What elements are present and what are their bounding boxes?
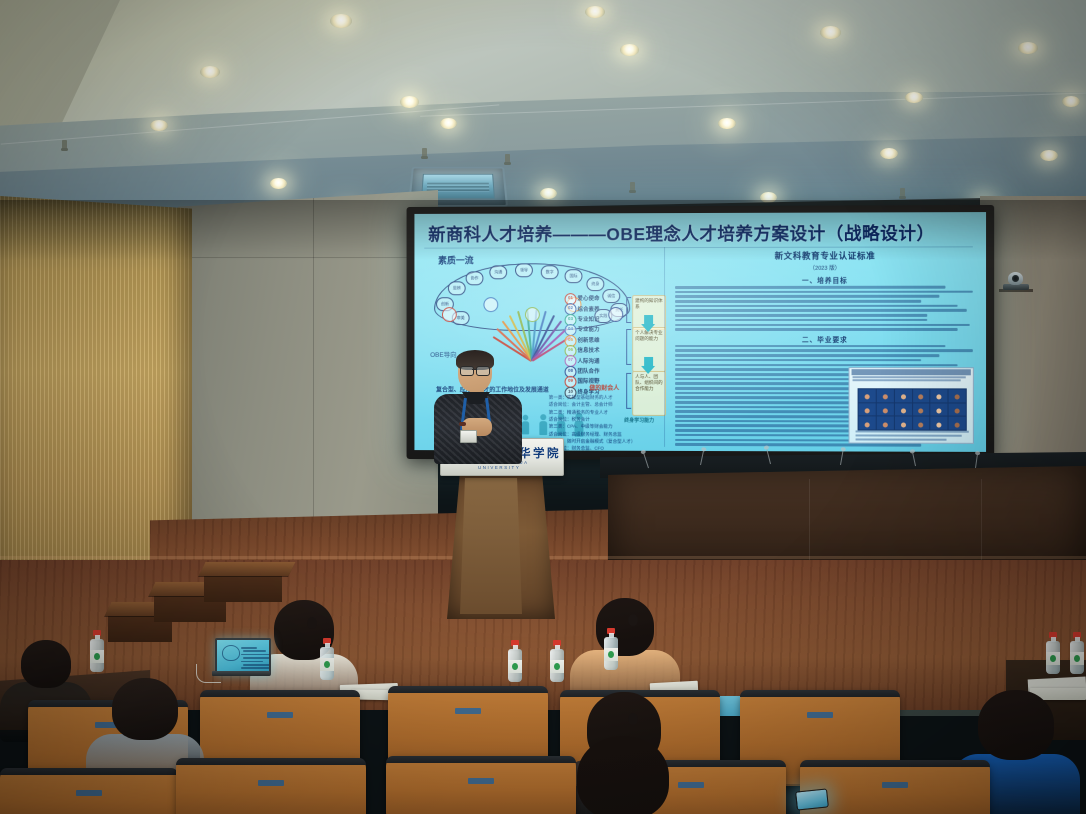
doc-title: 新文科教育专业认证标准 [671, 249, 980, 262]
person-hair-bun [307, 617, 317, 629]
mindmap-bubble: 数字 [541, 265, 559, 279]
competency-label: 爱心使命 [577, 294, 599, 302]
video-tile [877, 403, 894, 416]
ceiling-downlight [1040, 150, 1058, 161]
person-head [978, 690, 1054, 760]
person-head [577, 736, 669, 814]
competency-list-item: 06信息技术 [565, 345, 631, 355]
ceiling-downlight [620, 44, 639, 56]
video-tile [895, 389, 912, 402]
mindmap-node [442, 307, 457, 322]
ceiling-downlight [820, 26, 841, 39]
water-bottle[interactable] [508, 640, 522, 682]
ceiling-downlight [905, 92, 923, 103]
inset-header-bar [852, 369, 971, 375]
competency-list-item: 05创新思维 [565, 335, 631, 345]
ceiling-sprinkler [422, 148, 427, 158]
water-bottle[interactable] [604, 628, 618, 670]
ceiling-downlight [760, 192, 777, 203]
audience-person [548, 736, 698, 814]
competency-list-item: 03专业知识 [565, 314, 631, 324]
doc-text-line [675, 290, 973, 293]
ceiling-downlight [718, 118, 736, 129]
competency-list-item: 07人际沟通 [565, 355, 631, 365]
competency-numbered-list: 01爱心使命02综合素养03专业知识04专业能力05创新思维06信息技术07人际… [565, 293, 631, 397]
mindmap-bubble: 终身 [586, 277, 604, 291]
slide-title: 新商科人才培养———OBE理念人才培养方案设计（战略设计） [428, 220, 978, 247]
ceiling-downlight [1062, 96, 1080, 107]
competency-label: 创新思维 [577, 336, 599, 344]
competency-list-item: 08团队合作 [565, 366, 631, 376]
doc-text-line [675, 286, 946, 289]
flow-arrow [644, 357, 653, 367]
doc-text-line [675, 319, 927, 322]
mindmap-bubble: 思辨 [448, 281, 466, 295]
seat-number-plate [258, 780, 284, 786]
mindmap-node [483, 297, 498, 312]
podium: 安徽新华学院 ANHUI XINHUA UNIVERSITY [440, 438, 562, 620]
video-tile [913, 403, 930, 416]
doc-text-line [675, 328, 958, 331]
video-tile [859, 389, 876, 402]
seat-number-plate [267, 712, 293, 718]
ceiling-downlight [200, 66, 220, 78]
doc-text-line [675, 309, 967, 312]
water-bottle[interactable] [90, 630, 104, 672]
ceiling-downlight [400, 96, 419, 108]
ceiling-sprinkler [900, 188, 905, 198]
competency-list-item: 01爱心使命 [565, 293, 631, 303]
video-tile [859, 403, 876, 416]
mindmap-node [525, 307, 540, 322]
doc-text-line [675, 443, 921, 446]
water-bottle[interactable] [320, 638, 334, 680]
ceiling-downlight [440, 118, 457, 129]
doc-body-lines-a [675, 286, 976, 331]
auditorium-seat[interactable] [0, 768, 178, 814]
water-bottle[interactable] [1046, 632, 1060, 674]
doc-section-2: 二、毕业要求 [671, 334, 980, 344]
doc-text-line [675, 349, 973, 352]
person-head [21, 640, 71, 688]
mindmap-bubble: 国际 [565, 269, 583, 283]
presenter-wristband [459, 422, 466, 426]
doc-text-line [675, 323, 970, 326]
video-conference-grid [858, 388, 967, 430]
doc-section-1: 一、培养目标 [671, 275, 980, 285]
doc-text-line [675, 295, 939, 298]
competency-list-item: 04专业能力 [565, 324, 631, 334]
flow-arrow [644, 315, 653, 325]
seat-number-plate [882, 782, 908, 788]
video-tile [931, 417, 948, 430]
ceiling-downlight [330, 14, 352, 28]
laptop[interactable] [215, 638, 267, 678]
ceiling-sprinkler [62, 140, 67, 150]
video-tile [877, 417, 894, 430]
doc-text-line [675, 314, 927, 317]
ceiling-downlight [585, 6, 605, 18]
video-tile [931, 389, 948, 402]
ceiling-downlight [540, 188, 557, 199]
video-tile [895, 417, 912, 430]
ceiling-downlight [880, 148, 898, 159]
doc-text-line [675, 364, 958, 367]
doc-text-line [675, 359, 921, 362]
seat-number-plate [76, 790, 102, 796]
video-tile [949, 417, 966, 430]
auditorium-seat[interactable] [800, 760, 990, 814]
ptz-conference-camera-icon [1003, 272, 1029, 292]
presenter-glasses-icon [460, 366, 490, 374]
career-type-column: 做的财会人 第一类：实操型基础财务的人才适合岗位：会计主管、总会计师第二类：精通… [549, 383, 660, 452]
competency-list-item: 02综合素养 [565, 303, 631, 313]
smartphone[interactable] [795, 788, 829, 810]
doc-subtitle: （2023 版） [671, 263, 980, 272]
competency-label: 人际沟通 [577, 356, 599, 364]
video-tile [949, 403, 966, 416]
doc-text-line [675, 300, 921, 303]
presenter-badge [460, 430, 477, 443]
auditorium-seat[interactable] [176, 758, 366, 814]
doc-text-line [675, 354, 939, 357]
ceiling-downlight [1018, 42, 1038, 54]
video-tile [913, 417, 930, 430]
group-brace [626, 297, 631, 323]
lecture-hall-photo: 新商科人才培养———OBE理念人才培养方案设计（战略设计） 素质一流 OBE导向… [0, 0, 1086, 814]
career-col-lines: 第一类：实操型基础财务的人才适合岗位：会计主管、总会计师第二类：精通税务的专业人… [549, 394, 660, 452]
doc-text-line [675, 345, 946, 348]
ceiling-downlight [270, 178, 287, 189]
ceiling-downlight [150, 120, 168, 131]
career-line: 适合岗位：会计主管、总会计师 [549, 401, 660, 409]
inset-screenshot [849, 367, 974, 444]
doc-text-line [675, 305, 958, 308]
video-tile [859, 417, 876, 430]
group-brace [626, 329, 631, 365]
water-bottle[interactable] [1070, 632, 1084, 674]
person-hair-bun [628, 713, 638, 725]
video-tile [949, 389, 966, 402]
video-tile [931, 403, 948, 416]
competency-label: 专业能力 [577, 325, 599, 333]
mindmap-bubble: 协作 [466, 271, 484, 285]
presenter [432, 352, 524, 464]
competency-label: 专业知识 [577, 315, 599, 323]
competency-label: 综合素养 [577, 305, 599, 313]
seat-number-plate [468, 778, 494, 784]
career-line: 第三类：CPA、中级等财会能力 [549, 423, 660, 431]
water-bottle[interactable] [550, 640, 564, 682]
mindmap-bubble: 沟通 [489, 265, 507, 279]
video-tile [895, 403, 912, 416]
ceiling-sprinkler [630, 182, 635, 192]
slide-right-pane: 新文科教育专业认证标准 （2023 版） 一、培养目标 二、毕业要求 [664, 246, 980, 448]
career-col-heading: 做的财会人 [549, 383, 660, 392]
video-tile [877, 389, 894, 402]
seat-number-plate [455, 708, 481, 714]
seat-number-plate [807, 712, 833, 718]
person-head [112, 678, 178, 740]
ceiling-sprinkler [505, 154, 510, 164]
person-pictogram [539, 414, 547, 435]
podium-front-panel [460, 478, 522, 614]
competency-label: 信息技术 [577, 346, 599, 354]
group-note-boxes: 建构的知识体系个人解决专业问题的能力人与人、团队、组织间的合作能力终身学习能力 [424, 249, 662, 250]
video-tile [913, 389, 930, 402]
competency-label: 团队合作 [577, 367, 599, 375]
mindmap-bubble: 领导 [515, 263, 533, 277]
